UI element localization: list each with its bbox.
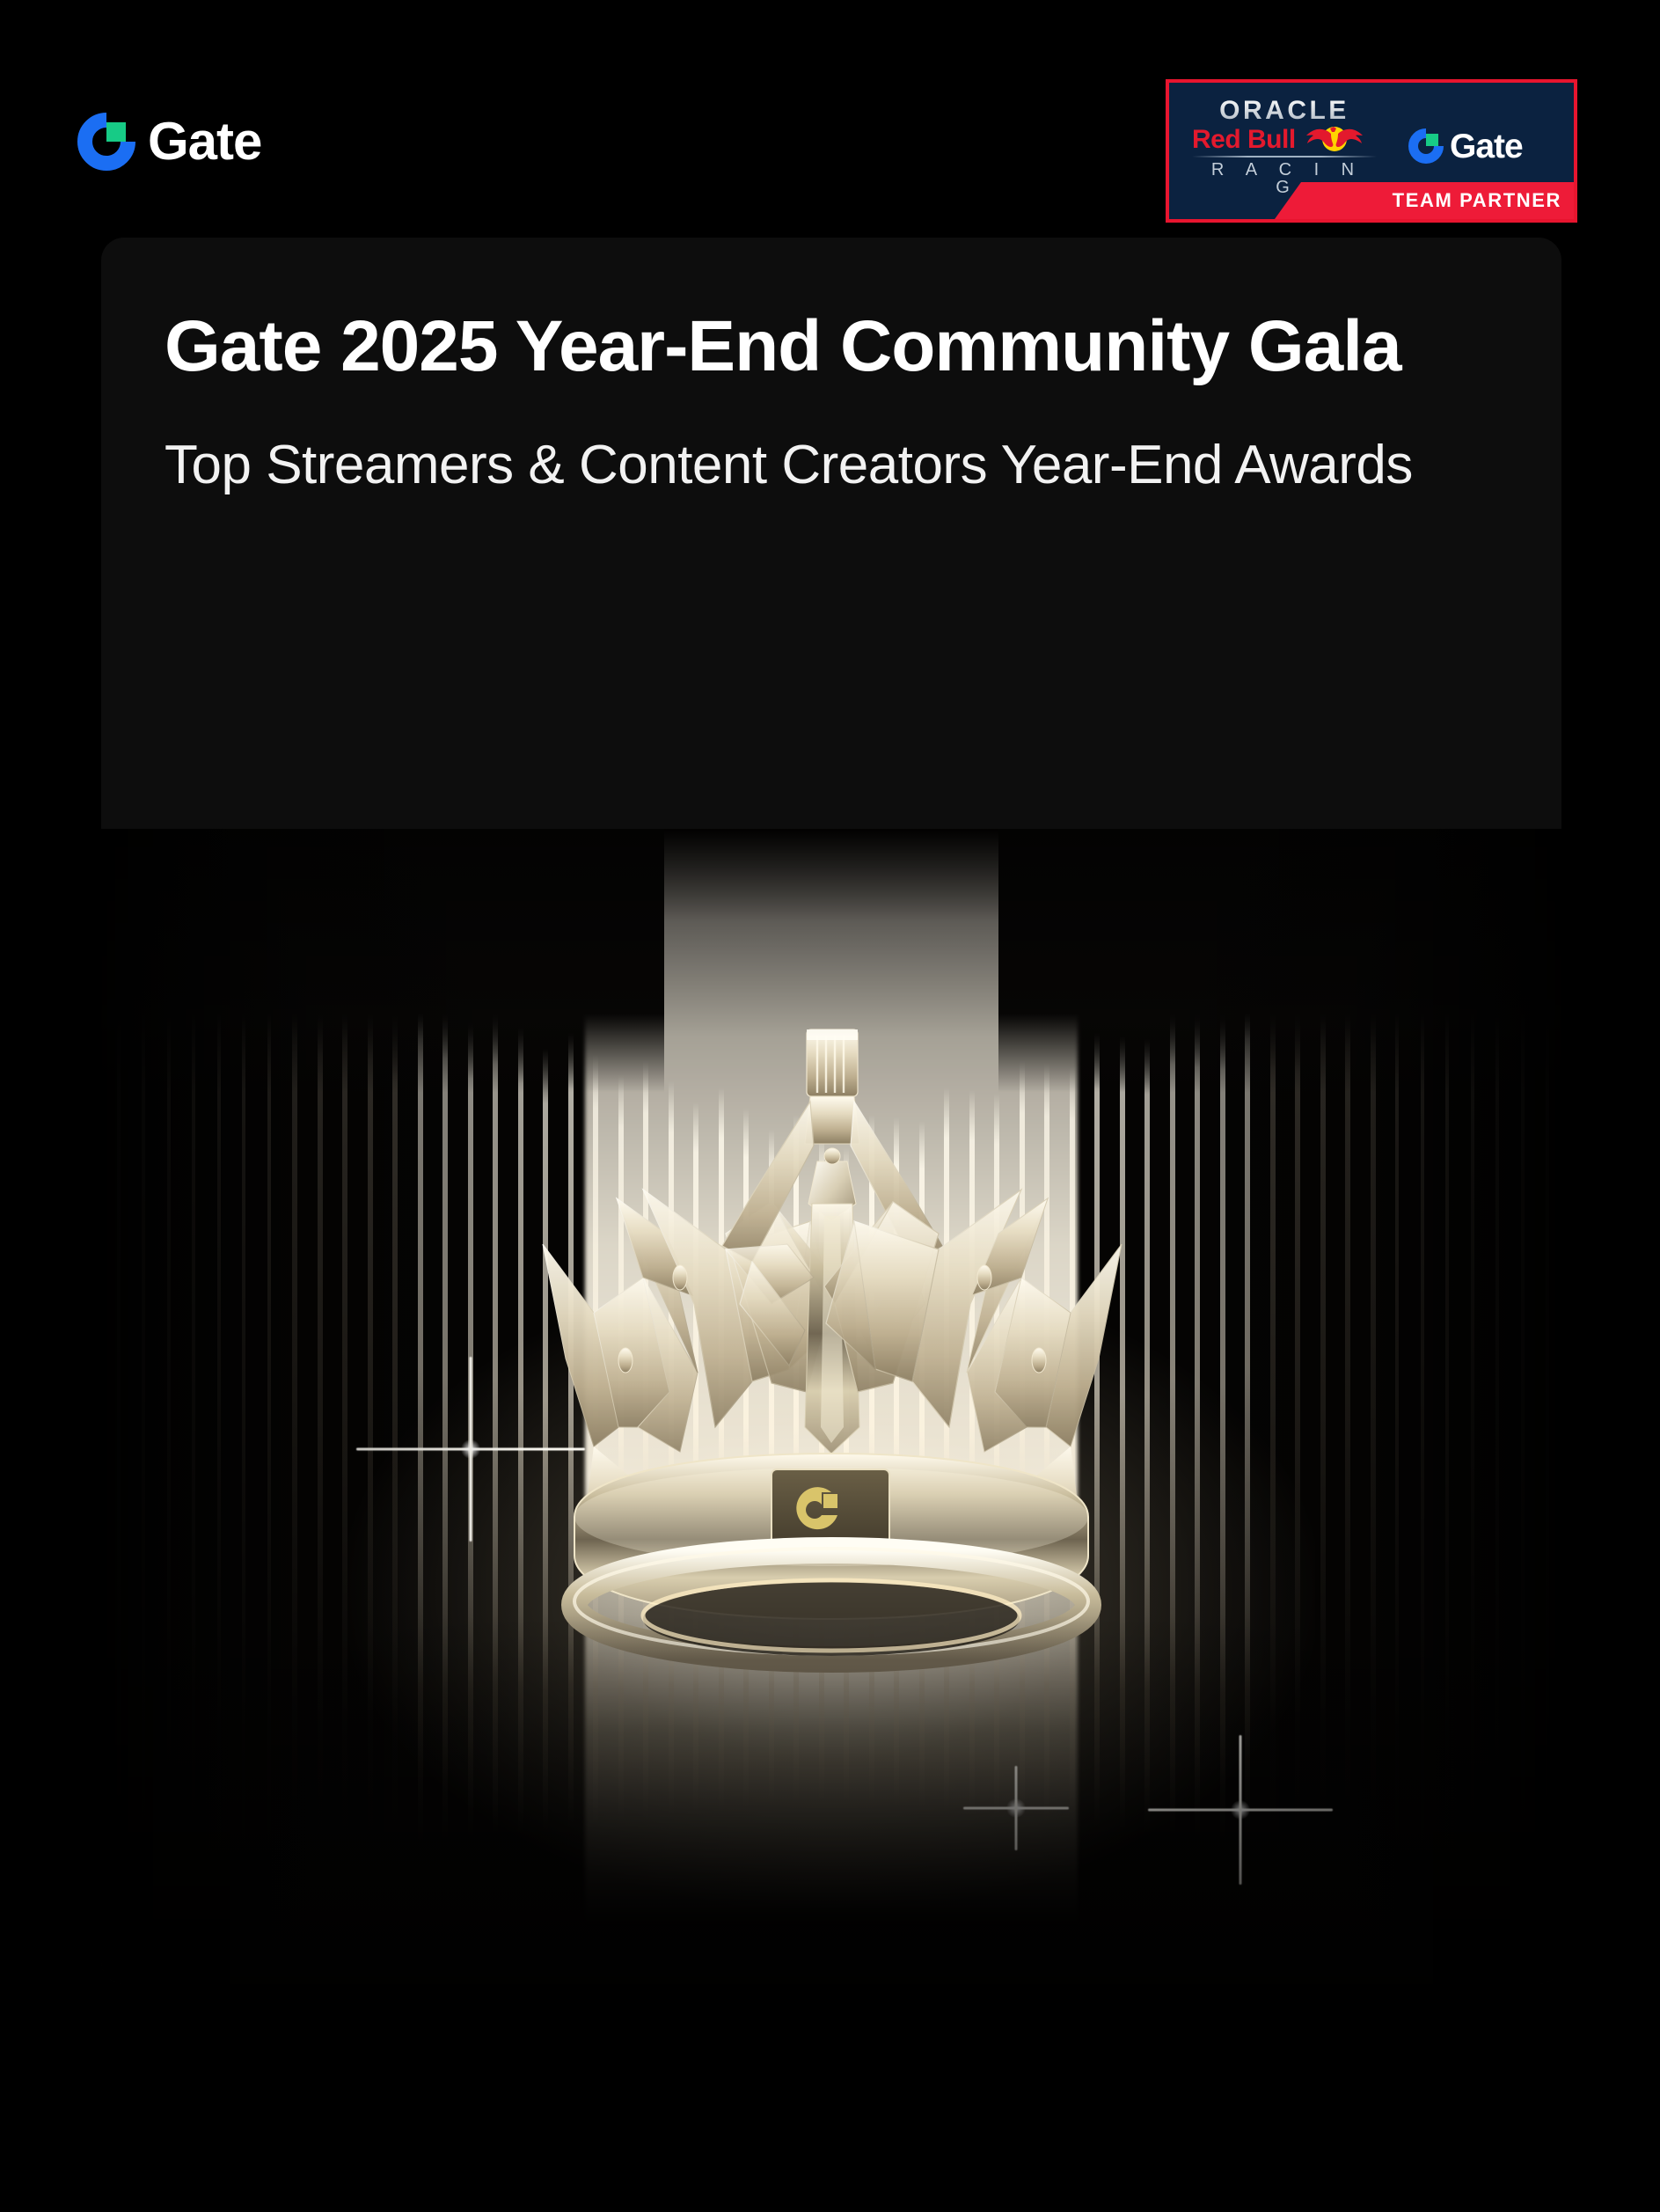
page-root: Gate ORACLE Red Bull [0,0,1660,2212]
red-bull-icon [1301,126,1368,152]
gate-brand-logo[interactable]: Gate [77,113,261,171]
gate-logo-icon [1408,128,1444,164]
page-header: Gate ORACLE Red Bull [0,0,1660,238]
gate-brand-wordmark: Gate [148,115,261,168]
event-card[interactable]: Gate 2025 Year-End Community Gala Top St… [101,238,1561,1984]
team-partner-banner: TEAM PARTNER [1275,182,1574,219]
red-bull-wordmark: Red Bull [1192,126,1296,154]
badge-gate-logo: Gate [1408,128,1523,164]
red-bull-row: Red Bull [1192,126,1377,154]
hero-vignette-overlay [101,829,1561,1984]
card-text-block: Gate 2025 Year-End Community Gala Top St… [101,238,1561,497]
gate-logo-icon [77,113,135,171]
page-subtitle: Top Streamers & Content Creators Year-En… [165,434,1498,497]
oracle-wordmark: ORACLE [1192,97,1377,125]
team-partner-label: TEAM PARTNER [1393,189,1561,212]
badge-divider-rule [1192,156,1377,157]
oracle-red-bull-racing-partner-badge: ORACLE Red Bull [1166,79,1577,223]
red-bull-racing-lockup: ORACLE Red Bull [1192,97,1377,196]
badge-gate-wordmark: Gate [1450,129,1523,164]
crown-hero-image [101,829,1561,1984]
page-title: Gate 2025 Year-End Community Gala [165,301,1498,392]
